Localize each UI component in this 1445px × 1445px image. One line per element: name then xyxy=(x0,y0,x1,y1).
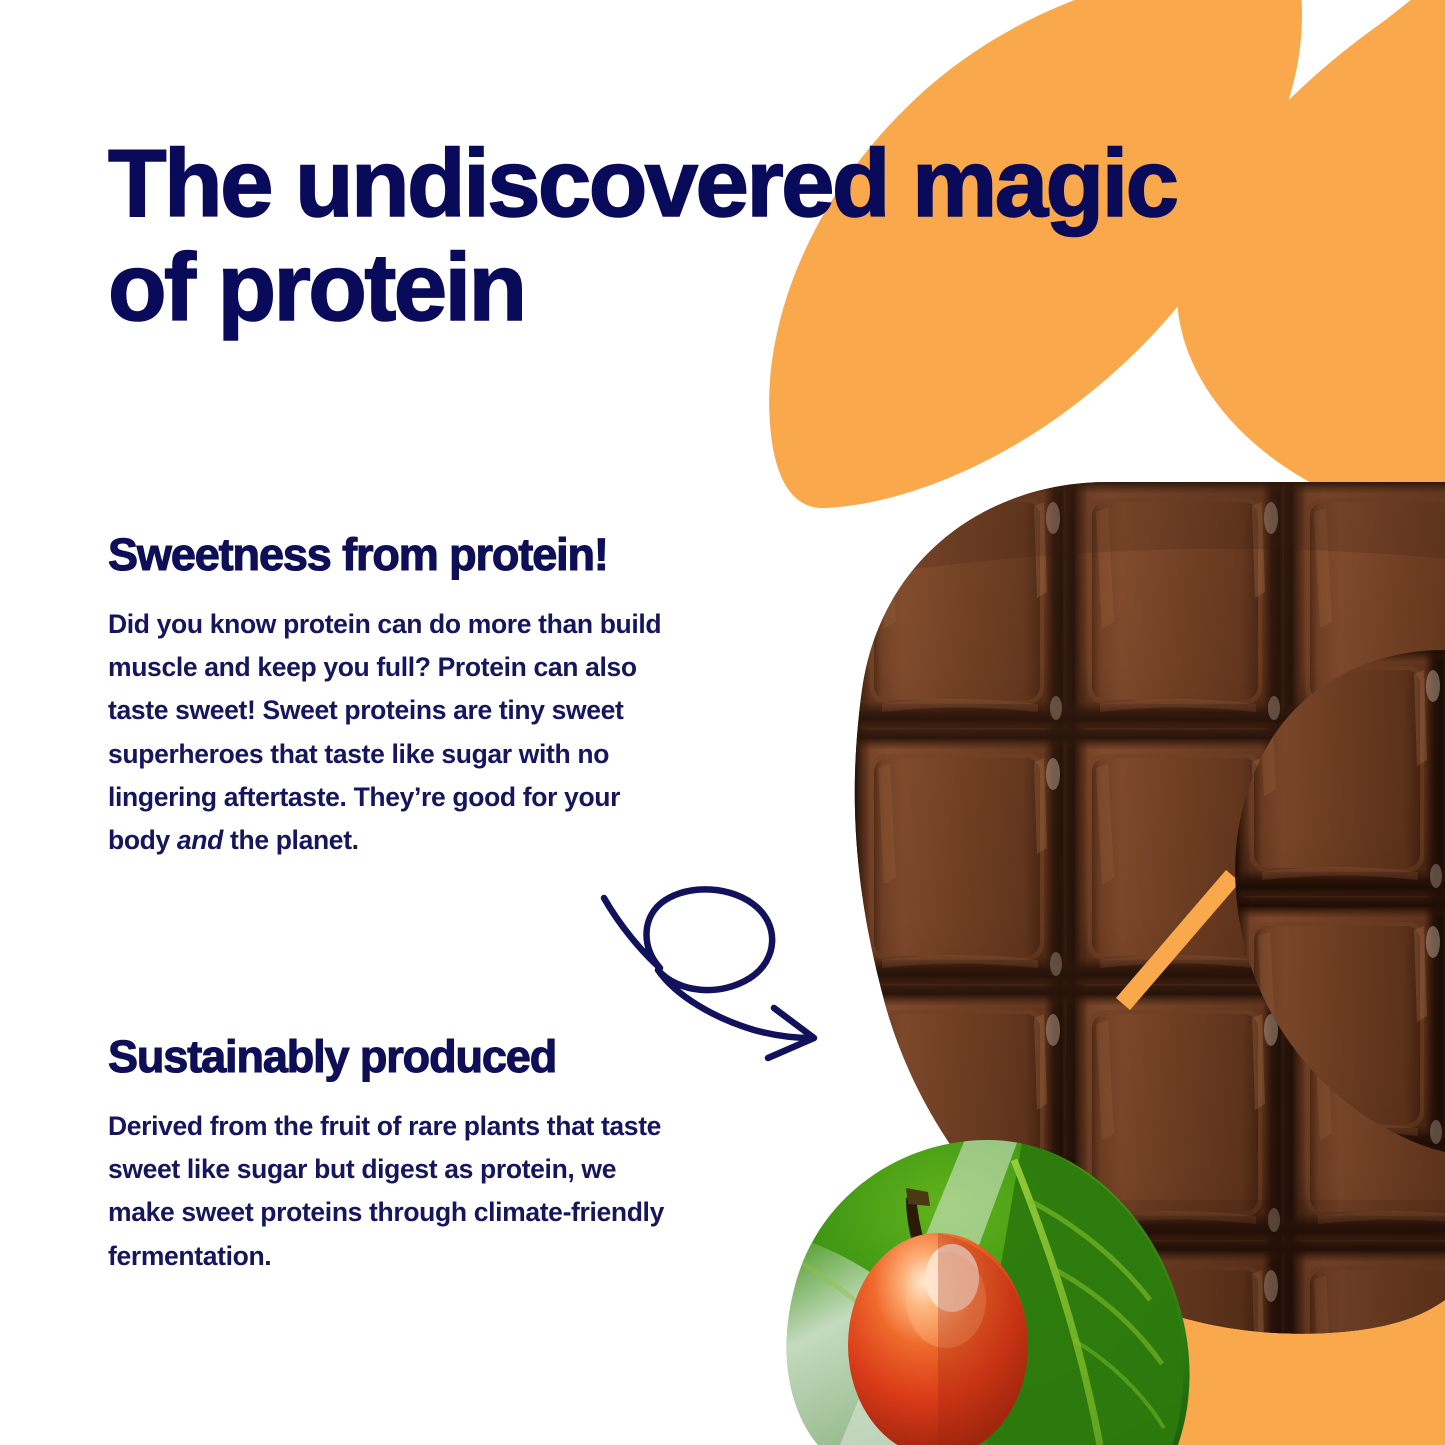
body-text-part-2: the planet. xyxy=(223,825,359,855)
section-heading-sweetness: Sweetness from protein! xyxy=(108,528,668,581)
page-title: The undiscovered magic of protein xyxy=(108,132,1188,339)
chocolate-bar-photo-secondary xyxy=(1220,630,1445,1180)
orange-leaf-vein xyxy=(1116,870,1240,1010)
chocolate-bar-photo xyxy=(840,470,1445,1372)
body-text-emphasis: and xyxy=(177,825,223,855)
orange-shape-bottom-right xyxy=(1072,1156,1445,1445)
section-sweetness: Sweetness from protein! Did you know pro… xyxy=(108,528,668,862)
curved-loop-arrow-icon xyxy=(598,878,838,1068)
section-body-sustainably-produced: Derived from the fruit of rare plants th… xyxy=(108,1105,688,1278)
katemfe-fruit-photo xyxy=(780,1130,1200,1445)
body-text-part-1: Did you know protein can do more than bu… xyxy=(108,609,661,855)
section-body-sweetness: Did you know protein can do more than bu… xyxy=(108,603,668,862)
orange-leaf-shape-right xyxy=(1249,150,1445,1160)
poster-canvas: The undiscovered magic of protein Sweetn… xyxy=(0,0,1445,1445)
